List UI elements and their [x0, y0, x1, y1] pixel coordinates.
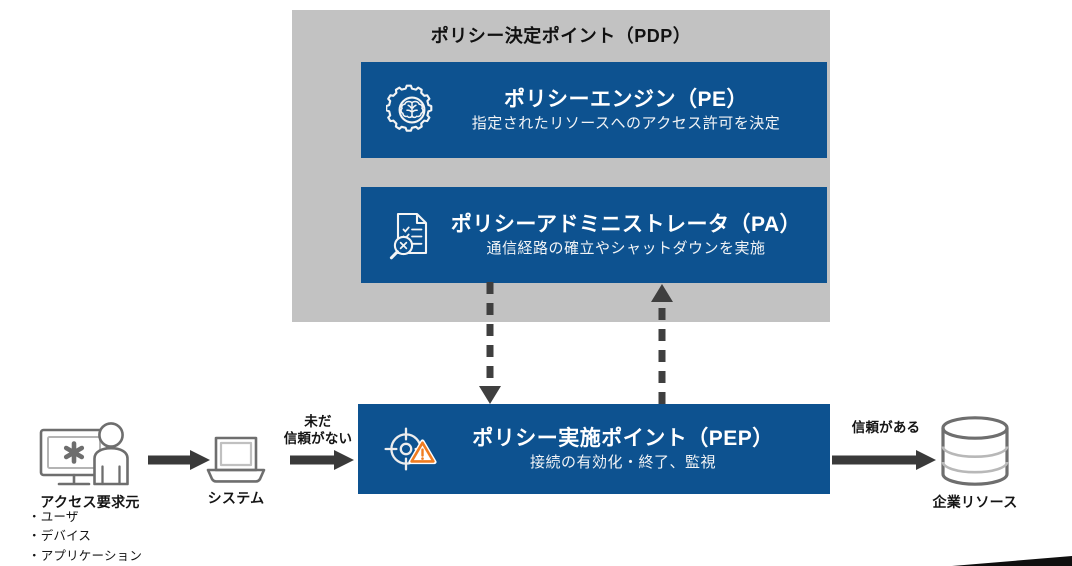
database-icon [927, 414, 1023, 490]
node-access-requester: アクセス要求元 [20, 418, 160, 512]
policy-enforcement-point-subtitle: 接続の有効化・終了、監視 [446, 454, 800, 473]
policy-administrator-title: ポリシーアドミニストレータ（PA） [449, 212, 803, 238]
label-untrusted-line2: 信頼がない [272, 431, 364, 448]
laptop-icon [200, 430, 272, 486]
monitor-user-icon [28, 418, 153, 490]
node-system-label: システム [200, 488, 272, 508]
label-untrusted-line1: 未だ [272, 414, 364, 431]
node-system: システム [200, 430, 272, 508]
policy-administrator-text: ポリシーアドミニストレータ（PA） 通信経路の確立やシャットダウンを実施 [449, 212, 827, 259]
document-magnifier-icon [375, 207, 449, 263]
crosshair-warning-icon [372, 421, 446, 477]
policy-enforcement-point-box[interactable]: ポリシー実施ポイント（PEP） 接続の有効化・終了、監視 [358, 404, 830, 494]
policy-engine-title: ポリシーエンジン（PE） [449, 87, 803, 113]
policy-engine-text: ポリシーエンジン（PE） 指定されたリソースへのアクセス許可を決定 [449, 87, 827, 134]
bullet-application: ・アプリケーション [28, 547, 142, 566]
label-untrusted: 未だ 信頼がない [272, 414, 364, 448]
pa-pep-connectors [460, 280, 700, 408]
corner-wedge-artifact [952, 550, 1072, 566]
arrow-system-to-pep [290, 448, 354, 472]
node-enterprise-resource-label: 企業リソース [920, 492, 1030, 512]
node-enterprise-resource: 企業リソース [920, 414, 1030, 512]
bullet-device: ・デバイス [28, 527, 142, 546]
policy-enforcement-point-text: ポリシー実施ポイント（PEP） 接続の有効化・終了、監視 [446, 426, 830, 473]
gear-brain-icon [375, 84, 449, 136]
policy-engine-box[interactable]: ポリシーエンジン（PE） 指定されたリソースへのアクセス許可を決定 [361, 62, 827, 158]
policy-engine-subtitle: 指定されたリソースへのアクセス許可を決定 [449, 115, 803, 134]
bullet-user: ・ユーザ [28, 508, 142, 527]
pdp-panel-title: ポリシー決定ポイント（PDP） [292, 22, 830, 48]
policy-enforcement-point-title: ポリシー実施ポイント（PEP） [446, 426, 800, 452]
policy-administrator-box[interactable]: ポリシーアドミニストレータ（PA） 通信経路の確立やシャットダウンを実施 [361, 187, 827, 283]
access-requester-bullets: ・ユーザ ・デバイス ・アプリケーション [28, 508, 142, 566]
diagram-canvas: ポリシー決定ポイント（PDP） ポリシーエンジ [0, 0, 1072, 566]
policy-administrator-subtitle: 通信経路の確立やシャットダウンを実施 [449, 240, 803, 259]
